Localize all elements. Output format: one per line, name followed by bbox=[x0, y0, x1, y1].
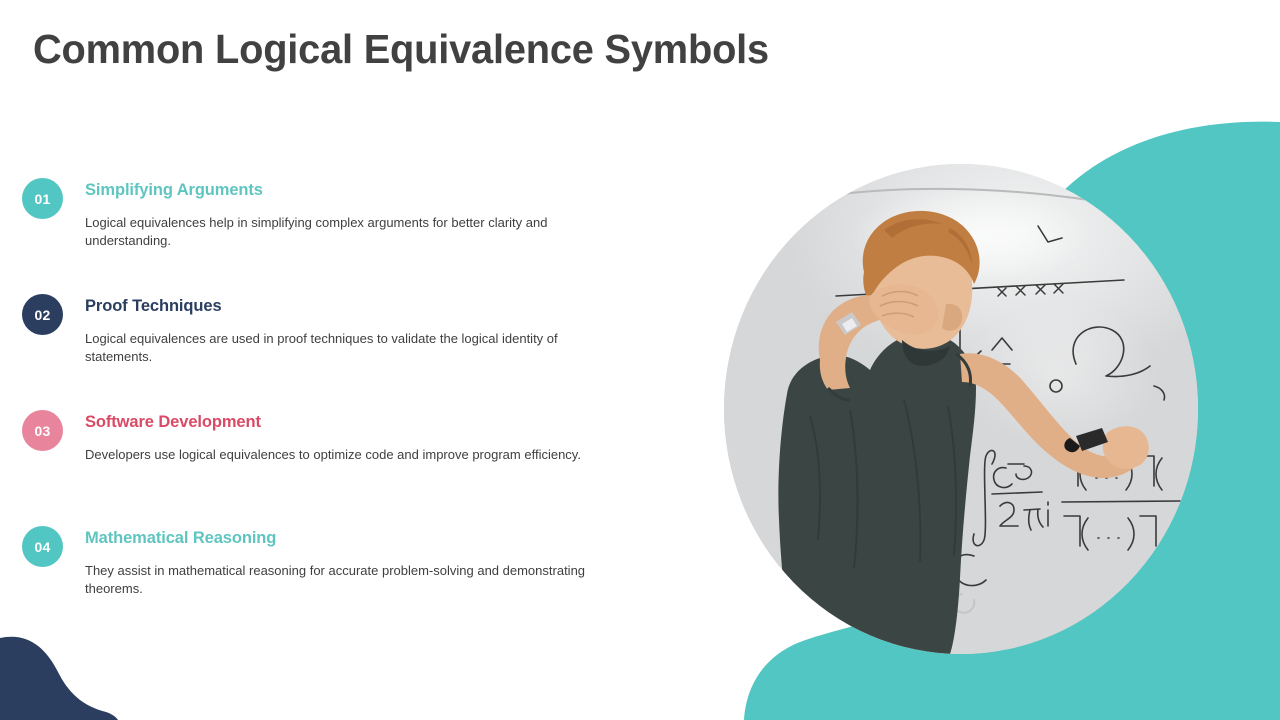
list-item[interactable]: 03 Software Development Developers use l… bbox=[22, 410, 642, 484]
navy-corner-blob bbox=[0, 637, 118, 720]
item-description: Developers use logical equivalences to o… bbox=[85, 446, 605, 464]
item-description: Logical equivalences help in simplifying… bbox=[85, 214, 605, 250]
item-title: Software Development bbox=[85, 411, 642, 433]
item-body: Software Development Developers use logi… bbox=[85, 410, 642, 464]
list-item[interactable]: 02 Proof Techniques Logical equivalences… bbox=[22, 294, 642, 368]
item-number-badge: 04 bbox=[22, 526, 63, 567]
item-description: Logical equivalences are used in proof t… bbox=[85, 330, 605, 366]
item-number-badge: 03 bbox=[22, 410, 63, 451]
item-body: Simplifying Arguments Logical equivalenc… bbox=[85, 178, 642, 250]
tshirt bbox=[778, 333, 976, 654]
right-hand bbox=[1103, 426, 1149, 469]
item-title: Mathematical Reasoning bbox=[85, 527, 642, 549]
list-item[interactable]: 04 Mathematical Reasoning They assist in… bbox=[22, 526, 642, 600]
person-at-whiteboard bbox=[724, 164, 1198, 654]
item-number-badge: 01 bbox=[22, 178, 63, 219]
list-item[interactable]: 01 Simplifying Arguments Logical equival… bbox=[22, 178, 642, 252]
whiteboard-photo bbox=[724, 164, 1198, 654]
slide-root: Common Logical Equivalence Symbols 01 Si… bbox=[0, 0, 1280, 720]
feature-list: 01 Simplifying Arguments Logical equival… bbox=[22, 178, 642, 600]
item-body: Mathematical Reasoning They assist in ma… bbox=[85, 526, 642, 598]
item-description: They assist in mathematical reasoning fo… bbox=[85, 562, 605, 598]
item-title: Simplifying Arguments bbox=[85, 179, 642, 201]
item-title: Proof Techniques bbox=[85, 295, 642, 317]
item-number-badge: 02 bbox=[22, 294, 63, 335]
item-body: Proof Techniques Logical equivalences ar… bbox=[85, 294, 642, 366]
page-title: Common Logical Equivalence Symbols bbox=[33, 26, 769, 73]
